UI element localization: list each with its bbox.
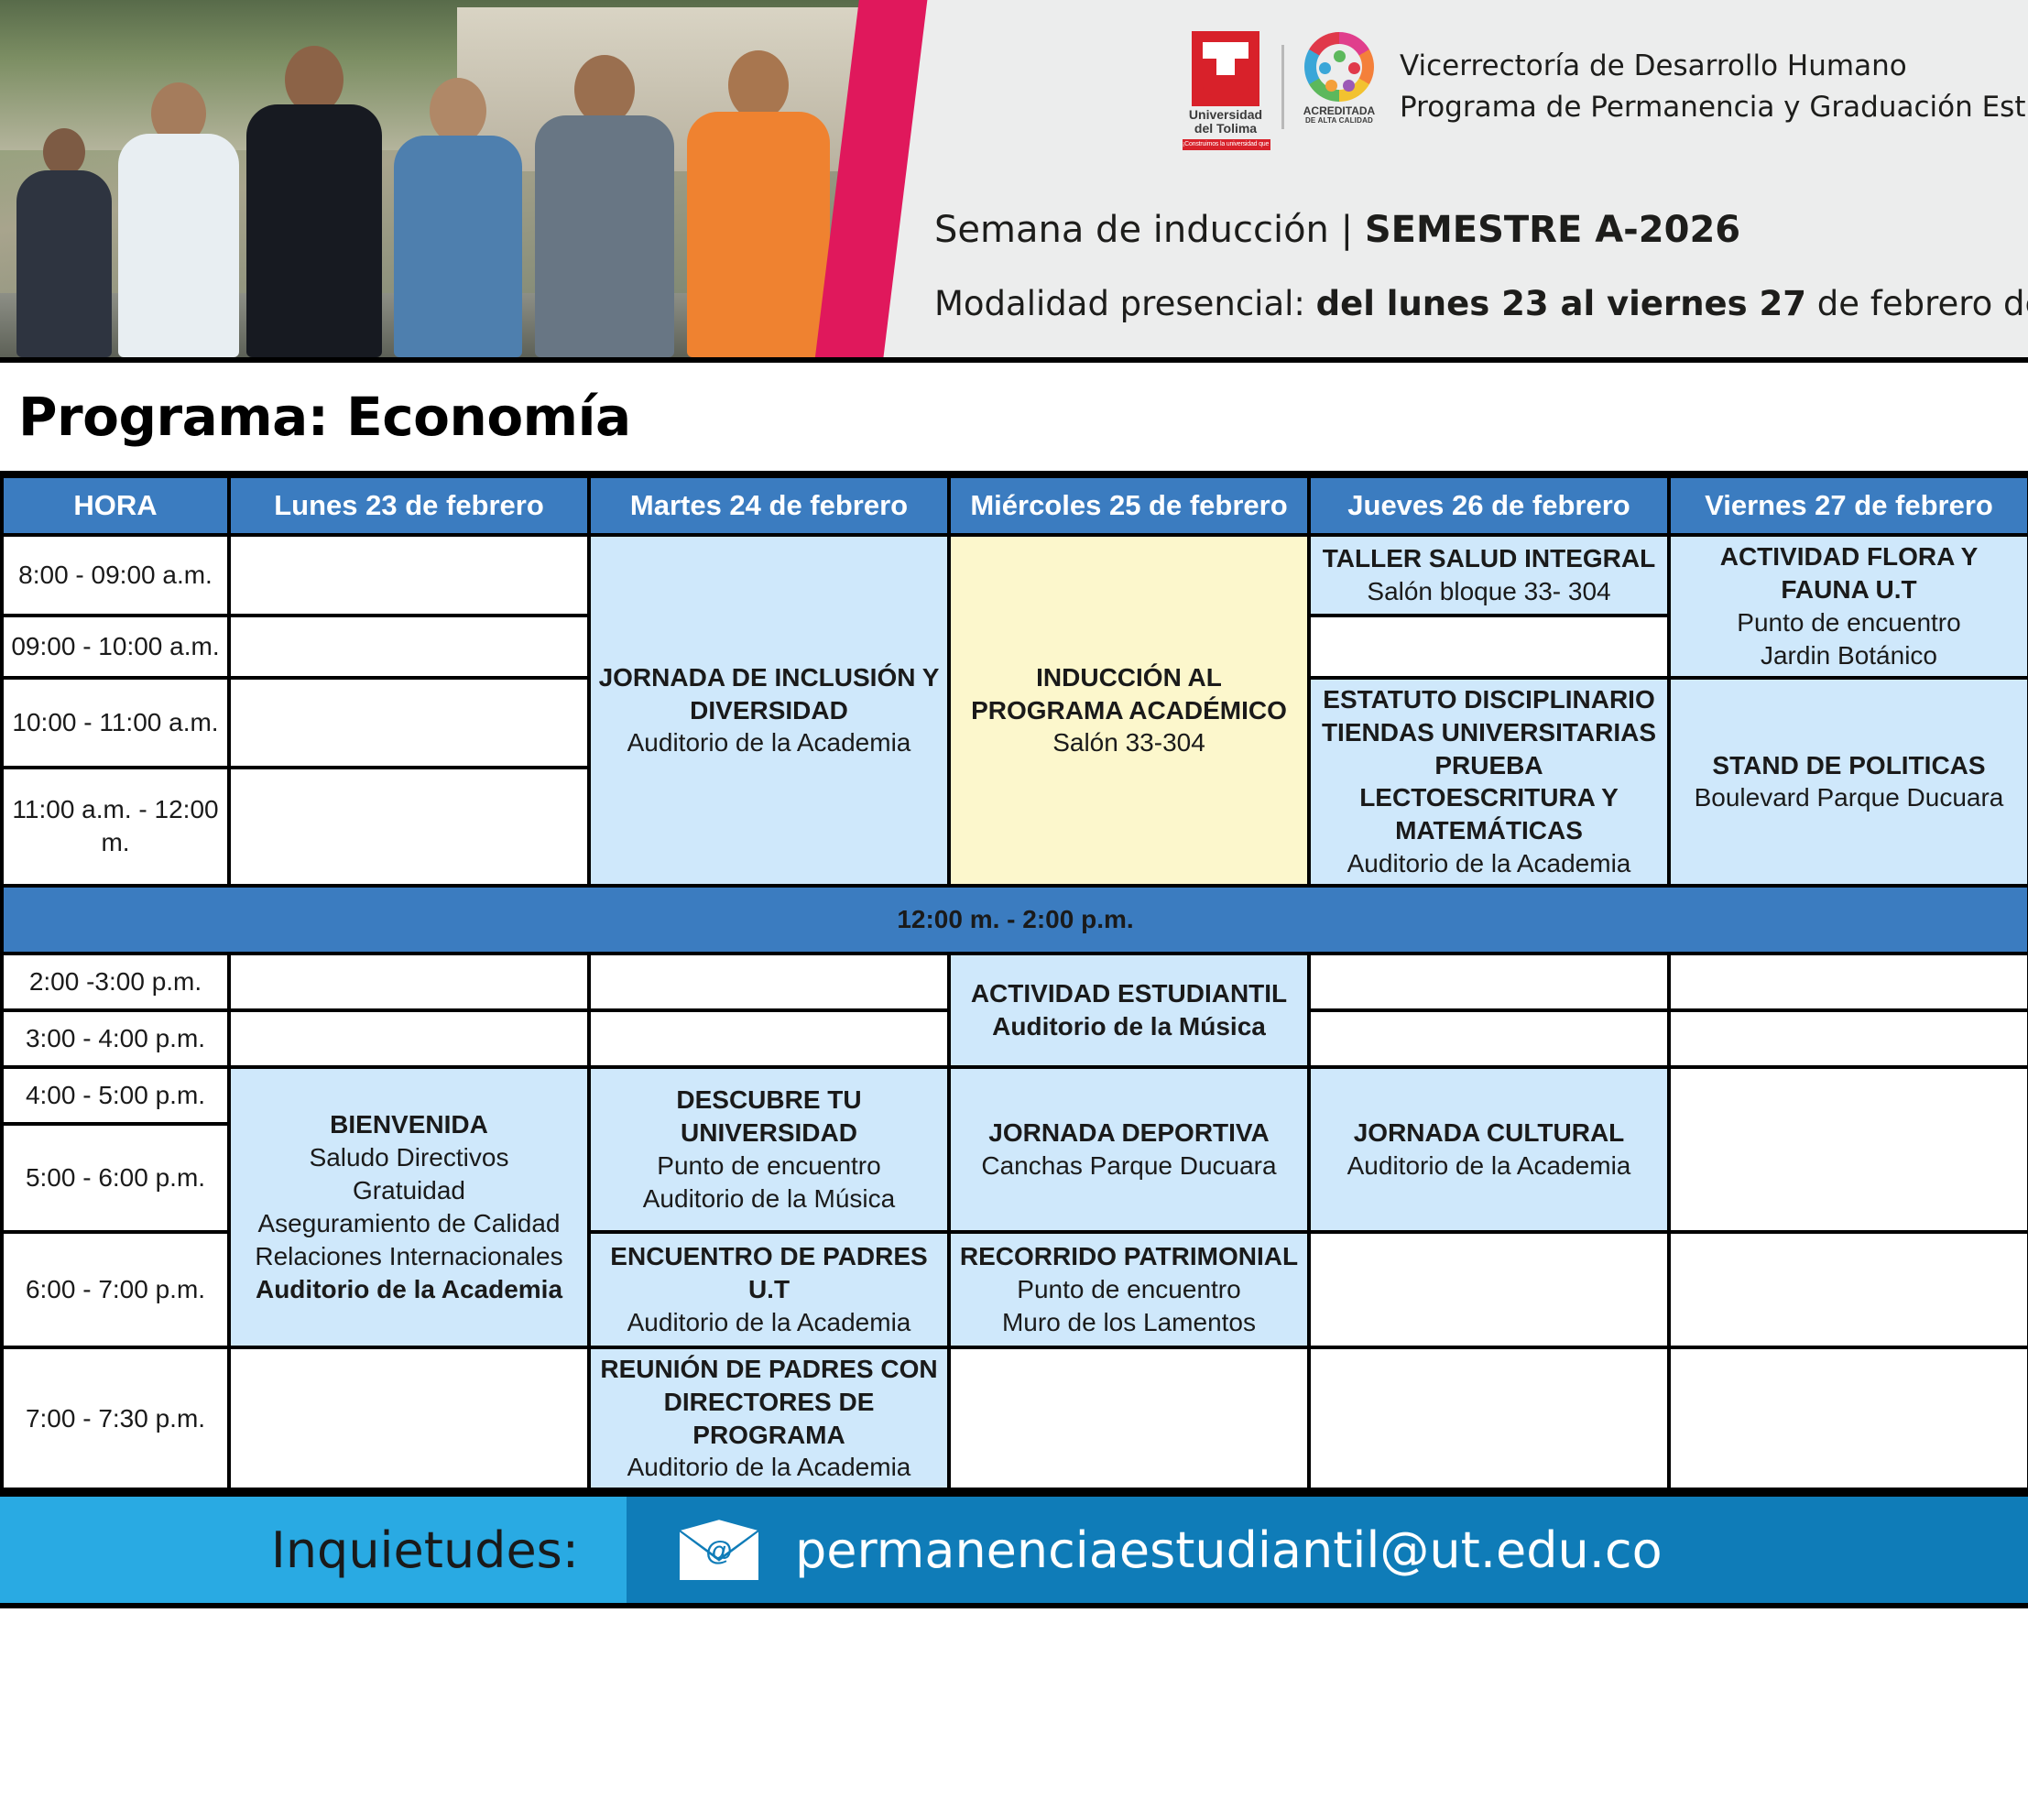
cell-miercoles-recorrido: RECORRIDO PATRIMONIAL Punto de encuentro… [949,1232,1309,1347]
activity-place: Auditorio de la Academia [598,1451,940,1484]
activity-title: JORNADA CULTURAL [1318,1117,1660,1150]
activity-detail: Saludo Directivos [238,1141,580,1174]
footer-email-block[interactable]: @ permanenciaestudiantil@ut.edu.co [627,1497,2028,1603]
cell-miercoles-morning: INDUCCIÓN AL PROGRAMA ACADÉMICO Salón 33… [949,535,1309,886]
column-header-jueves: Jueves 26 de febrero [1309,476,1669,535]
seal-ring-icon [1304,32,1374,102]
programa-line: Programa de Permanencia y Graduación Est… [1400,87,2028,128]
cell-lunes-0800 [229,535,589,616]
time-label: 4:00 - 5:00 p.m. [2,1067,229,1124]
activity-place: Salón bloque 33- 304 [1318,575,1660,608]
time-label: 5:00 - 6:00 p.m. [2,1124,229,1232]
cell-jueves-1400 [1309,954,1669,1010]
cell-viernes-flora: ACTIVIDAD FLORA Y FAUNA U.T Punto de enc… [1669,535,2028,678]
seal-dot [1348,62,1360,74]
time-label: 09:00 - 10:00 a.m. [2,616,229,678]
induction-schedule-page: Universidad del Tolima ¡Construimos la u… [0,0,2028,1820]
cell-jueves-0900 [1309,616,1669,678]
activity-title: ENCUENTRO DE PADRES U.T [598,1240,940,1306]
seal-dot [1334,50,1346,62]
activity-place: Muro de los Lamentos [958,1306,1300,1339]
header-banner: Universidad del Tolima ¡Construimos la u… [0,0,2028,363]
footer-label-block: Inquietudes: [0,1497,627,1603]
activity-title: INDUCCIÓN AL PROGRAMA ACADÉMICO [958,661,1300,727]
schedule-table: HORA Lunes 23 de febrero Martes 24 de fe… [0,474,2028,1491]
cell-martes-morning: JORNADA DE INCLUSIÓN Y DIVERSIDAD Audito… [589,535,949,886]
column-header-miercoles: Miércoles 25 de febrero [949,476,1309,535]
photo-person [385,78,531,357]
time-label: 2:00 -3:00 p.m. [2,954,229,1010]
photo-person-head [430,78,486,144]
institution-text: Vicerrectoría de Desarrollo Humano Progr… [1400,46,2028,128]
photo-person-body [394,136,522,357]
photo-person [9,128,119,357]
photo-person-body [535,115,674,357]
table-header-row: HORA Lunes 23 de febrero Martes 24 de fe… [2,476,2028,535]
vicerrectoria-line: Vicerrectoría de Desarrollo Humano [1400,46,2028,87]
cell-lunes-bienvenida: BIENVENIDA Saludo Directivos Gratuidad A… [229,1067,589,1347]
cell-viernes-1400 [1669,954,2028,1010]
activity-place: Jardin Botánico [1678,639,2020,672]
activity-place: Salón 33-304 [958,726,1300,759]
photo-person-body [118,134,239,357]
activity-title: DESCUBRE TU UNIVERSIDAD [598,1084,940,1150]
activity-place: Auditorio de la Música [958,1010,1300,1043]
institutional-branding: Universidad del Tolima ¡Construimos la u… [1186,31,2028,143]
cell-viernes-stand: STAND DE POLITICAS Boulevard Parque Ducu… [1669,678,2028,886]
time-label: 11:00 a.m. - 12:00 m. [2,768,229,886]
banner-headline: Semana de inducción | SEMESTRE A-2026 [934,209,2028,251]
photo-person-body [687,112,830,357]
banner-headline-block: Semana de inducción | SEMESTRE A-2026 Mo… [934,209,2028,323]
activity-title: STAND DE POLITICAS [1678,749,2020,782]
seal-dot [1343,80,1355,92]
column-header-martes: Martes 24 de febrero [589,476,949,535]
cell-viernes-1500 [1669,1010,2028,1067]
page-title: Programa: Economía [18,386,631,448]
accreditation-seal-icon: ACREDITADA DE ALTA CALIDAD [1301,32,1378,142]
cell-jueves-estatuto: ESTATUTO DISCIPLINARIO TIENDAS UNIVERSIT… [1309,678,1669,886]
activity-detail: Relaciones Internacionales [238,1240,580,1273]
cell-martes-encuentro: ENCUENTRO DE PADRES U.T Auditorio de la … [589,1232,949,1347]
photo-person [678,50,838,357]
accreditation-label: ACREDITADA DE ALTA CALIDAD [1295,105,1383,125]
cell-martes-descubre: DESCUBRE TU UNIVERSIDAD Punto de encuent… [589,1067,949,1232]
time-label: 6:00 - 7:00 p.m. [2,1232,229,1347]
cell-miercoles-actividad: ACTIVIDAD ESTUDIANTIL Auditorio de la Mú… [949,954,1309,1067]
cell-martes-reunion: REUNIÓN DE PADRES CON DIRECTORES DE PROG… [589,1347,949,1489]
cell-miercoles-1900 [949,1347,1309,1489]
table-row: 7:00 - 7:30 p.m. REUNIÓN DE PADRES CON D… [2,1347,2028,1489]
cell-jueves-0800: TALLER SALUD INTEGRAL Salón bloque 33- 3… [1309,535,1669,616]
column-header-lunes: Lunes 23 de febrero [229,476,589,535]
photo-person-head [728,50,789,120]
cell-lunes-1900 [229,1347,589,1489]
cell-jueves-1900 [1309,1347,1669,1489]
activity-title: ACTIVIDAD FLORA Y FAUNA U.T [1678,540,2020,606]
time-label: 3:00 - 4:00 p.m. [2,1010,229,1067]
time-label: 7:00 - 7:30 p.m. [2,1347,229,1489]
ut-monogram-icon [1192,31,1259,106]
activity-place: Boulevard Parque Ducuara [1678,781,2020,814]
brand-divider [1281,45,1284,129]
activity-title: REUNIÓN DE PADRES CON DIRECTORES DE PROG… [598,1353,940,1451]
activity-place: Punto de encuentro [958,1273,1300,1306]
cell-lunes-1400 [229,954,589,1010]
lunch-break-row: 12:00 m. - 2:00 p.m. [2,886,2028,954]
contact-email[interactable]: permanenciaestudiantil@ut.edu.co [795,1521,1663,1579]
university-slogan: ¡Construimos la universidad que soñamos! [1183,139,1270,150]
photo-person-head [43,128,85,176]
photo-person-head [574,55,635,125]
cell-martes-1400 [589,954,949,1010]
activity-place: Auditorio de la Academia [238,1273,580,1306]
activity-title: JORNADA DEPORTIVA [958,1117,1300,1150]
envelope-icon: @ [680,1520,758,1580]
table-row: 8:00 - 09:00 a.m. JORNADA DE INCLUSIÓN Y… [2,535,2028,616]
cell-viernes-1800 [1669,1232,2028,1347]
cell-lunes-1500 [229,1010,589,1067]
time-label: 10:00 - 11:00 a.m. [2,678,229,768]
activity-title: TALLER SALUD INTEGRAL [1318,542,1660,575]
cell-jueves-1500 [1309,1010,1669,1067]
program-title-row: Programa: Economía [0,363,2028,474]
activity-title: ACTIVIDAD ESTUDIANTIL [958,977,1300,1010]
photo-person-body [16,170,112,357]
activity-title: BIENVENIDA [238,1108,580,1141]
column-header-hora: HORA [2,476,229,535]
photo-person [527,55,682,357]
activity-place: Auditorio de la Academia [598,1306,940,1339]
activity-title: ESTATUTO DISCIPLINARIO TIENDAS UNIVERSIT… [1318,683,1660,847]
university-logo-icon: Universidad del Tolima ¡Construimos la u… [1186,31,1265,143]
banner-subline: Modalidad presencial: del lunes 23 al vi… [934,284,2028,323]
table-row: 4:00 - 5:00 p.m. BIENVENIDA Saludo Direc… [2,1067,2028,1124]
activity-place: Auditorio de la Academia [1318,1150,1660,1182]
cell-lunes-0900 [229,616,589,678]
cell-miercoles-deportiva: JORNADA DEPORTIVA Canchas Parque Ducuara [949,1067,1309,1232]
table-row: 2:00 -3:00 p.m. ACTIVIDAD ESTUDIANTIL Au… [2,954,2028,1010]
time-label: 8:00 - 09:00 a.m. [2,535,229,616]
photo-person-head [285,46,343,114]
cell-jueves-cultural: JORNADA CULTURAL Auditorio de la Academi… [1309,1067,1669,1232]
activity-place: Auditorio de la Academia [598,726,940,759]
cell-lunes-1100 [229,768,589,886]
activity-title: RECORRIDO PATRIMONIAL [958,1240,1300,1273]
footer-label: Inquietudes: [271,1521,579,1579]
lunch-break-label: 12:00 m. - 2:00 p.m. [2,886,2028,954]
activity-place: Canchas Parque Ducuara [958,1150,1300,1182]
cell-martes-1500 [589,1010,949,1067]
seal-dot [1325,80,1337,92]
cell-lunes-1000 [229,678,589,768]
activity-place: Punto de encuentro [1678,606,2020,639]
activity-place: Auditorio de la Música [598,1182,940,1215]
photo-person [110,82,247,357]
activity-detail: Gratuidad [238,1174,580,1207]
seal-dot [1319,62,1331,74]
photo-person [238,46,389,357]
column-header-viernes: Viernes 27 de febrero [1669,476,2028,535]
cell-viernes-1600 [1669,1067,2028,1232]
activity-title: JORNADA DE INCLUSIÓN Y DIVERSIDAD [598,661,940,727]
contact-footer: Inquietudes: @ permanenciaestudiantil@ut… [0,1491,2028,1608]
photo-person-body [246,104,382,357]
cell-jueves-1800 [1309,1232,1669,1347]
university-logo-name: Universidad del Tolima [1186,108,1265,135]
activity-place: Punto de encuentro [598,1150,940,1182]
cell-viernes-1900 [1669,1347,2028,1489]
students-photo [0,0,879,357]
activity-detail: Aseguramiento de Calidad [238,1207,580,1240]
activity-place: Auditorio de la Academia [1318,847,1660,880]
